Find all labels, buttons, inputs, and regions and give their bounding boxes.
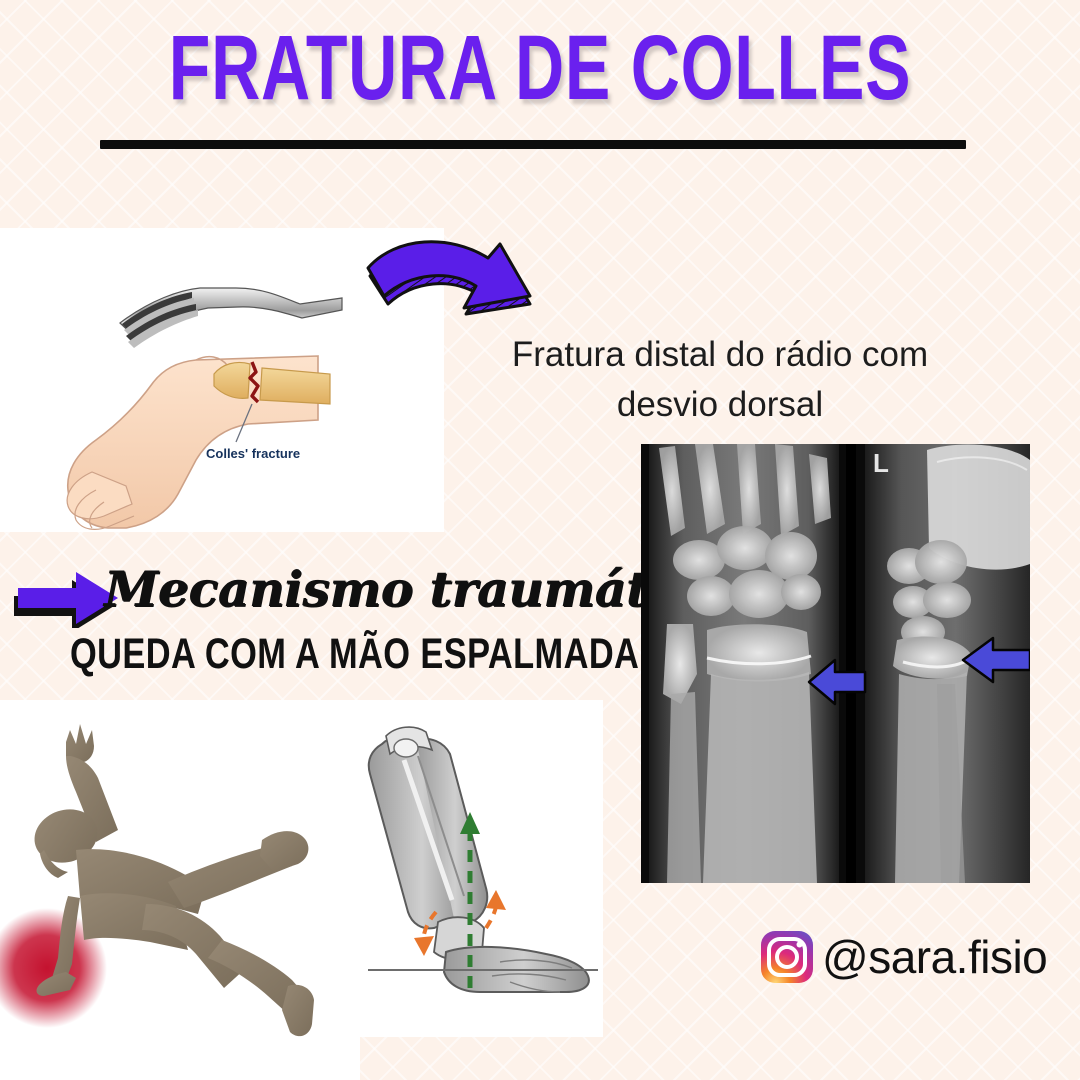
title-underline-rule — [100, 140, 966, 149]
fork-icon — [120, 288, 342, 348]
instagram-handle[interactable]: @sara.fisio — [822, 930, 1047, 984]
xray-side-marker: L — [873, 448, 889, 478]
fall-svg — [0, 700, 360, 1080]
instagram-icon[interactable] — [760, 930, 814, 984]
wrist-biomechanics-illustration — [360, 700, 603, 1037]
colles-fracture-caption: Colles' fracture — [206, 446, 300, 461]
biomech-svg — [360, 700, 603, 1037]
falling-person-illustration — [0, 700, 360, 1080]
xray-view-pa — [641, 444, 846, 883]
description-line-1: Fratura distal do rádio com — [470, 330, 970, 380]
description-text: Fratura distal do rádio com desvio dorsa… — [470, 330, 970, 429]
mechanism-subtitle: QUEDA COM A MÃO ESPALMADA — [70, 630, 630, 679]
page-title: FRATURA DE COLLES — [140, 22, 939, 114]
hand-forearm — [67, 356, 330, 529]
description-line-2: desvio dorsal — [470, 380, 970, 430]
xray-panel: L — [641, 444, 1030, 883]
instagram-credit[interactable]: @sara.fisio — [760, 930, 1047, 984]
xray-svg: L — [641, 444, 1030, 883]
